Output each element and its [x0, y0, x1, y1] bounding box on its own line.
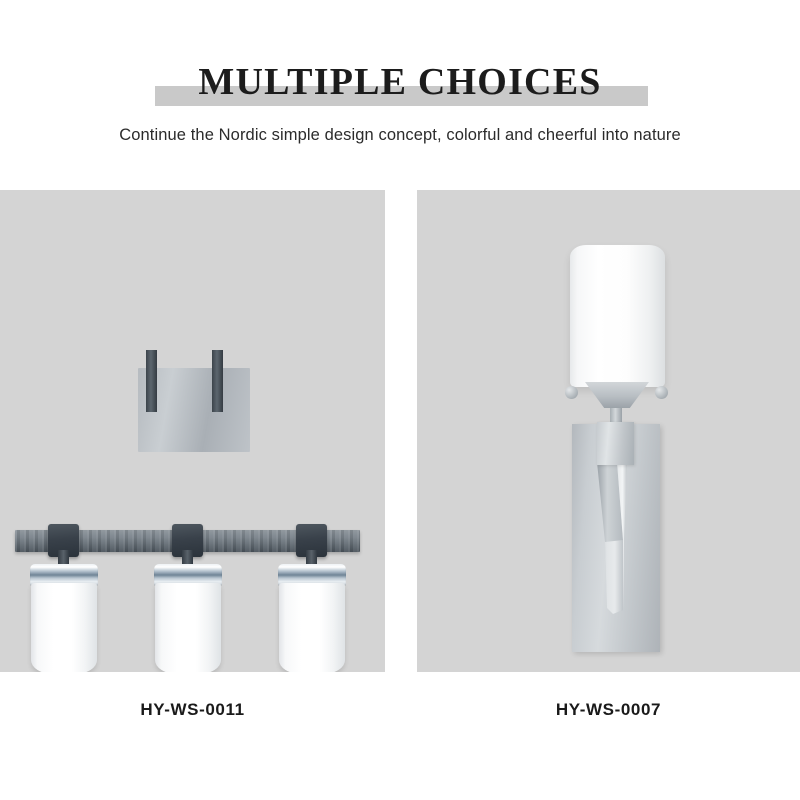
vanity-glass-shade-1: [30, 564, 98, 672]
page-header: MULTIPLE CHOICES: [0, 58, 800, 110]
sconce-knob-right: [655, 386, 668, 399]
product-captions: HY-WS-0011 HY-WS-0007: [0, 700, 800, 730]
product-panel-left[interactable]: [0, 190, 385, 672]
product-caption-left: HY-WS-0011: [0, 700, 385, 720]
vanity-glass-cylinder-3: [279, 583, 345, 672]
sconce-knob-left: [565, 386, 578, 399]
vanity-support-arm-left: [146, 350, 157, 412]
product-showcase-page: MULTIPLE CHOICES Continue the Nordic sim…: [0, 0, 800, 800]
sconce-mount-block: [597, 422, 634, 465]
vanity-glass-shade-2: [154, 564, 222, 672]
page-title: MULTIPLE CHOICES: [0, 58, 800, 106]
sconce-glass-shade: [570, 245, 665, 387]
product-caption-right: HY-WS-0007: [417, 700, 800, 720]
vanity-glass-cylinder-1: [31, 583, 97, 672]
vanity-support-arm-right: [212, 350, 223, 412]
sconce-twisted-tail: [593, 462, 639, 614]
vanity-glass-shade-3: [278, 564, 346, 672]
vanity-bar-fixture-image: [0, 190, 385, 672]
vanity-glass-cylinder-2: [155, 583, 221, 672]
product-gallery: [0, 190, 800, 672]
wall-sconce-fixture-image: [417, 190, 800, 672]
sconce-cone-fitter: [585, 382, 649, 408]
product-panel-right[interactable]: [417, 190, 800, 672]
page-subtitle: Continue the Nordic simple design concep…: [0, 126, 800, 145]
